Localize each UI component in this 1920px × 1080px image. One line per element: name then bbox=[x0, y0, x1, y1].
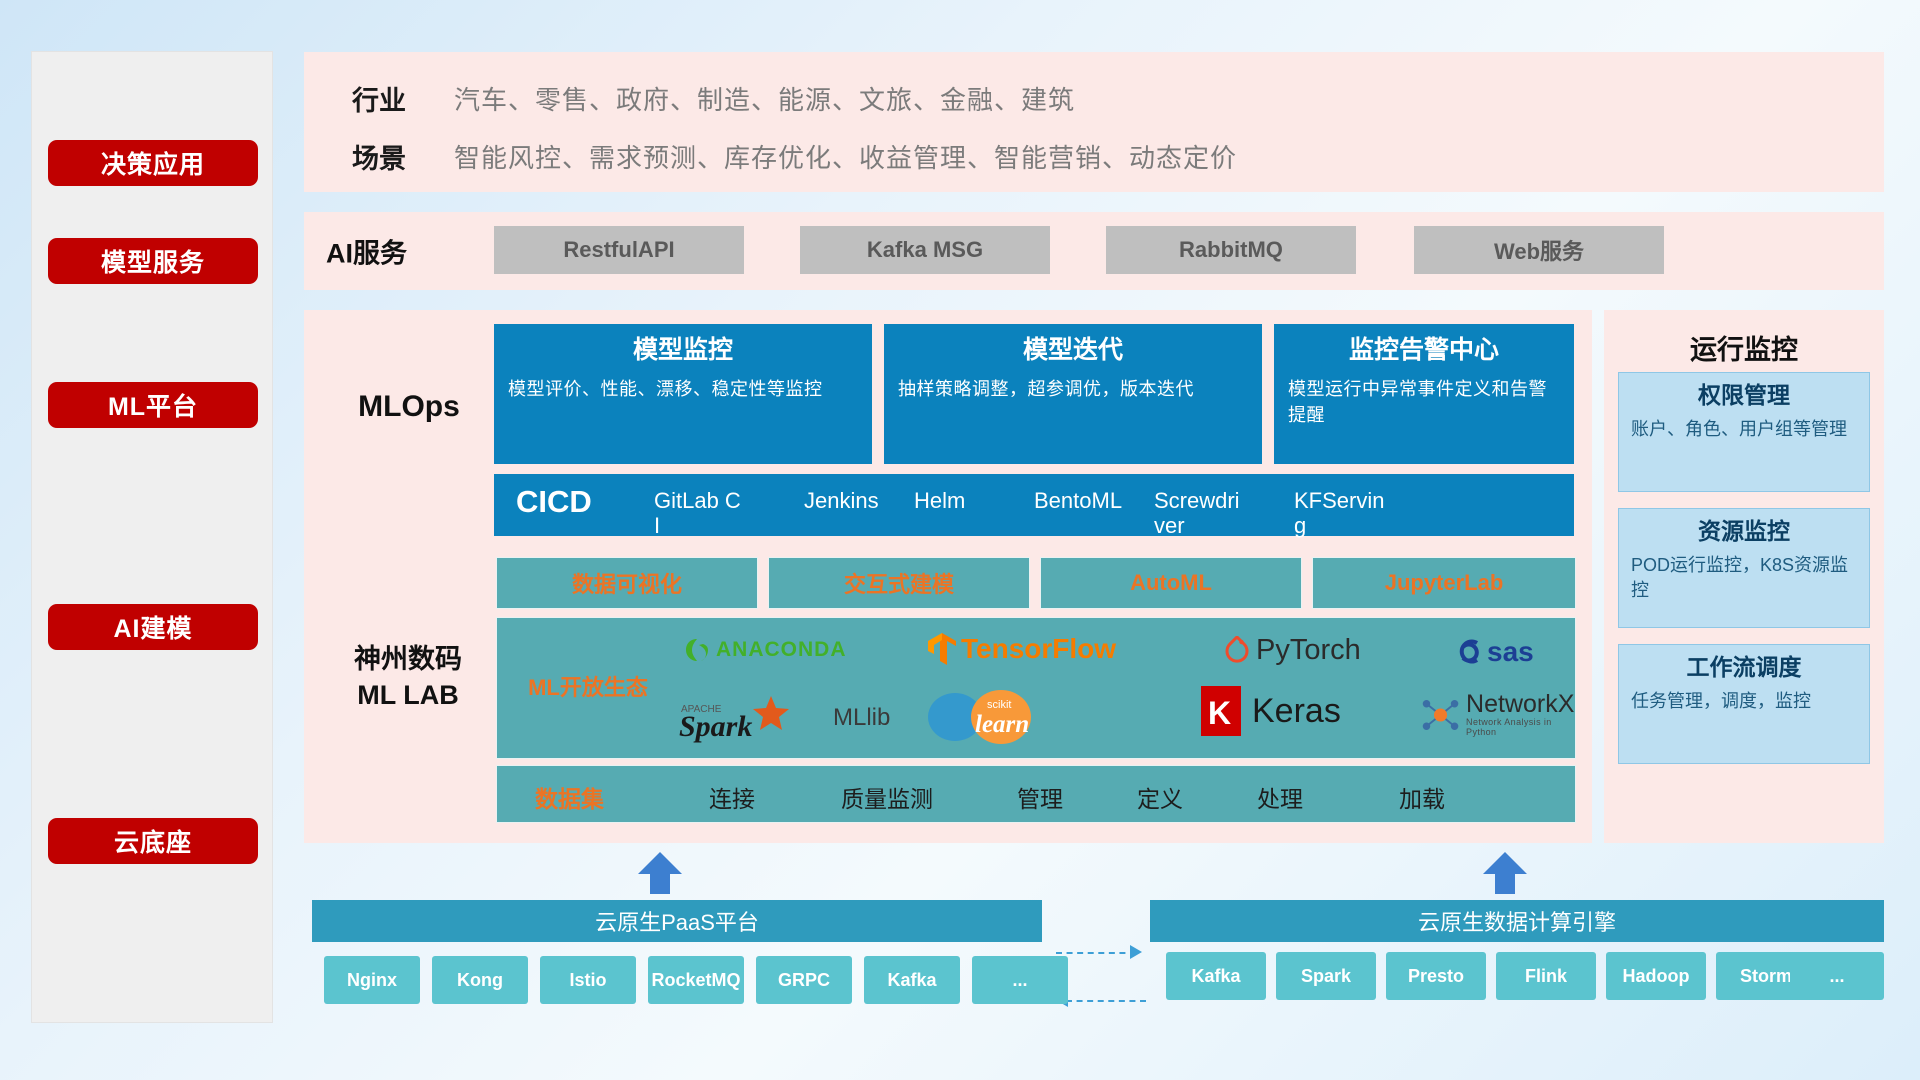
lab-cap-data-visualization[interactable]: 数据可视化 bbox=[496, 557, 758, 609]
rail-item-ml-platform[interactable]: ML平台 bbox=[48, 382, 258, 428]
pytorch-icon bbox=[1223, 636, 1251, 666]
data-engine-bar[interactable]: 云原生数据计算引擎 bbox=[1150, 900, 1884, 942]
ml-lab-label: 神州数码 ML LAB bbox=[318, 641, 498, 714]
industry-scenario-panel: 行业 汽车、零售、政府、制造、能源、文旅、金融、建筑 场景 智能风控、需求预测、… bbox=[304, 52, 1884, 192]
chip-kafka-left[interactable]: Kafka bbox=[864, 956, 960, 1004]
monitoring-title: 运行监控 bbox=[1604, 328, 1884, 367]
sas-wordmark: sas bbox=[1487, 636, 1534, 668]
chip-kong[interactable]: Kong bbox=[432, 956, 528, 1004]
mlops-card-model-monitoring[interactable]: 模型监控 模型评价、性能、漂移、稳定性等监控 bbox=[494, 324, 872, 464]
cicd-strip: CICD GitLab CI Jenkins Helm BentoML Scre… bbox=[494, 474, 1574, 536]
keras-icon: K bbox=[1201, 686, 1245, 736]
arrow-up-right-icon bbox=[1475, 852, 1535, 894]
chip-grpc[interactable]: GRPC bbox=[756, 956, 852, 1004]
industry-row: 行业 汽车、零售、政府、制造、能源、文旅、金融、建筑 bbox=[304, 70, 1075, 126]
chip-presto[interactable]: Presto bbox=[1386, 952, 1486, 1000]
industry-label: 行业 bbox=[304, 79, 454, 118]
scikit-learn-logo: scikit learn bbox=[923, 688, 1093, 746]
sas-logo: sas bbox=[1455, 636, 1534, 668]
card-title: 模型监控 bbox=[508, 334, 858, 368]
scenario-label: 场景 bbox=[304, 137, 454, 176]
networkx-logo: NetworkX Network Analysis in Python bbox=[1419, 692, 1577, 737]
chip-flink[interactable]: Flink bbox=[1496, 952, 1596, 1000]
mlops-card-model-iteration[interactable]: 模型迭代 抽样策略调整，超参调优，版本迭代 bbox=[884, 324, 1262, 464]
tensorflow-wordmark: TensorFlow bbox=[961, 633, 1116, 665]
service-chip-restfulapi[interactable]: RestfulAPI bbox=[494, 226, 744, 274]
service-chip-kafka-msg[interactable]: Kafka MSG bbox=[800, 226, 1050, 274]
card-desc: 账户、角色、用户组等管理 bbox=[1631, 417, 1857, 442]
service-chip-rabbitmq[interactable]: RabbitMQ bbox=[1106, 226, 1356, 274]
svg-text:scikit: scikit bbox=[987, 699, 1011, 711]
scenario-value: 智能风控、需求预测、库存优化、收益管理、智能营销、动态定价 bbox=[454, 138, 1237, 175]
rail-item-decision-app[interactable]: 决策应用 bbox=[48, 140, 258, 186]
monitoring-rail: 运行监控 权限管理 账户、角色、用户组等管理 资源监控 POD运行监控，K8S资… bbox=[1604, 310, 1884, 843]
chip-rocketmq[interactable]: RocketMQ bbox=[648, 956, 744, 1004]
chip-more-left[interactable]: ... bbox=[972, 956, 1068, 1004]
ai-service-panel: AI服务 RestfulAPI Kafka MSG RabbitMQ Web服务 bbox=[304, 212, 1884, 290]
sas-icon bbox=[1455, 638, 1485, 666]
paas-bar[interactable]: 云原生PaaS平台 bbox=[312, 900, 1042, 942]
anaconda-icon bbox=[683, 636, 711, 664]
svg-text:K: K bbox=[1208, 695, 1231, 731]
monitor-card-workflow[interactable]: 工作流调度 任务管理，调度，监控 bbox=[1618, 644, 1870, 764]
diagram-canvas: 决策应用 模型服务 ML平台 AI建模 云底座 行业 汽车、零售、政府、制造、能… bbox=[0, 0, 1920, 1080]
chip-istio[interactable]: Istio bbox=[540, 956, 636, 1004]
scikit-learn-icon: scikit learn bbox=[923, 688, 1093, 746]
pytorch-logo: PyTorch bbox=[1223, 634, 1361, 667]
monitor-card-resource[interactable]: 资源监控 POD运行监控，K8S资源监控 bbox=[1618, 508, 1870, 628]
dataset-item-process[interactable]: 处理 bbox=[1235, 780, 1325, 814]
cicd-item-gitlab-ci[interactable]: GitLab CI bbox=[654, 488, 746, 539]
chip-hadoop[interactable]: Hadoop bbox=[1606, 952, 1706, 1000]
mllib-wordmark: MLlib bbox=[833, 704, 890, 732]
cicd-item-kfserving[interactable]: KFServing bbox=[1294, 488, 1386, 539]
card-desc: POD运行监控，K8S资源监控 bbox=[1631, 553, 1857, 603]
service-chip-web-service[interactable]: Web服务 bbox=[1414, 226, 1664, 274]
cicd-item-helm[interactable]: Helm bbox=[914, 488, 1006, 513]
lab-cap-automl[interactable]: AutoML bbox=[1040, 557, 1302, 609]
cicd-label: CICD bbox=[516, 484, 592, 520]
card-desc: 模型运行中异常事件定义和告警提醒 bbox=[1288, 376, 1560, 428]
chip-nginx[interactable]: Nginx bbox=[324, 956, 420, 1004]
rail-item-ai-modeling[interactable]: AI建模 bbox=[48, 604, 258, 650]
dataset-item-define[interactable]: 定义 bbox=[1115, 780, 1205, 814]
industry-value: 汽车、零售、政府、制造、能源、文旅、金融、建筑 bbox=[454, 80, 1075, 117]
networkx-icon bbox=[1419, 693, 1462, 737]
connector-arrow-right-icon bbox=[1130, 944, 1146, 960]
pytorch-wordmark: PyTorch bbox=[1256, 634, 1361, 667]
lab-cap-interactive-modeling[interactable]: 交互式建模 bbox=[768, 557, 1030, 609]
dataset-strip: 数据集 连接 质量监测 管理 定义 处理 加载 bbox=[496, 765, 1576, 823]
keras-logo: K Keras bbox=[1201, 686, 1341, 736]
dataset-item-quality[interactable]: 质量监测 bbox=[817, 780, 957, 814]
card-desc: 任务管理，调度，监控 bbox=[1631, 689, 1857, 714]
mlops-card-alert-center[interactable]: 监控告警中心 模型运行中异常事件定义和告警提醒 bbox=[1274, 324, 1574, 464]
dataset-label: 数据集 bbox=[535, 780, 604, 814]
spark-mllib-logo: APACHE Spark MLlib bbox=[679, 692, 890, 744]
ml-ecosystem-label: ML开放生态 bbox=[513, 670, 663, 702]
chip-more-right[interactable]: ... bbox=[1790, 952, 1884, 1000]
dataset-item-load[interactable]: 加载 bbox=[1377, 780, 1467, 814]
chip-kafka-right[interactable]: Kafka bbox=[1166, 952, 1266, 1000]
anaconda-wordmark: ANACONDA bbox=[716, 638, 847, 662]
mlops-panel: MLOps 模型监控 模型评价、性能、漂移、稳定性等监控 模型迭代 抽样策略调整… bbox=[304, 310, 1592, 550]
card-desc: 抽样策略调整，超参调优，版本迭代 bbox=[898, 376, 1248, 402]
connector-dashed-bottom bbox=[1066, 1000, 1146, 1002]
arrow-up-left-icon bbox=[630, 852, 690, 894]
cicd-item-jenkins[interactable]: Jenkins bbox=[804, 488, 896, 513]
cicd-item-screwdriver[interactable]: Screwdriver bbox=[1154, 488, 1246, 539]
dataset-item-connect[interactable]: 连接 bbox=[687, 780, 777, 814]
networkx-tagline: Network Analysis in Python bbox=[1466, 717, 1577, 737]
card-title: 资源监控 bbox=[1631, 517, 1857, 547]
logo-grid: ANACONDA TensorFlow PyTorch bbox=[665, 622, 1571, 756]
mlops-label: MLOps bbox=[324, 390, 494, 424]
monitor-card-permission[interactable]: 权限管理 账户、角色、用户组等管理 bbox=[1618, 372, 1870, 492]
dataset-item-manage[interactable]: 管理 bbox=[995, 780, 1085, 814]
scenario-row: 场景 智能风控、需求预测、库存优化、收益管理、智能营销、动态定价 bbox=[304, 128, 1237, 184]
ml-ecosystem-box: ML开放生态 ANACONDA TensorFlow bbox=[496, 617, 1576, 759]
spark-icon: APACHE Spark bbox=[679, 692, 829, 744]
card-desc: 模型评价、性能、漂移、稳定性等监控 bbox=[508, 376, 858, 402]
anaconda-logo: ANACONDA bbox=[683, 636, 847, 664]
ml-lab-label-line2: ML LAB bbox=[318, 677, 498, 713]
rail-item-model-service[interactable]: 模型服务 bbox=[48, 238, 258, 284]
networkx-wordmark: NetworkX bbox=[1466, 692, 1577, 717]
lab-cap-jupyterlab[interactable]: JupyterLab bbox=[1312, 557, 1576, 609]
rail-item-cloud-base[interactable]: 云底座 bbox=[48, 818, 258, 864]
ml-lab-label-line1: 神州数码 bbox=[318, 641, 498, 677]
ml-lab-panel: 神州数码 ML LAB 数据可视化 交互式建模 AutoML JupyterLa… bbox=[304, 545, 1592, 843]
tensorflow-icon bbox=[927, 632, 957, 666]
svg-text:Spark: Spark bbox=[679, 710, 752, 743]
chip-spark[interactable]: Spark bbox=[1276, 952, 1376, 1000]
card-title: 权限管理 bbox=[1631, 381, 1857, 411]
card-title: 工作流调度 bbox=[1631, 653, 1857, 683]
ai-service-label: AI服务 bbox=[326, 232, 407, 271]
card-title: 监控告警中心 bbox=[1288, 334, 1560, 368]
keras-wordmark: Keras bbox=[1252, 692, 1341, 731]
tensorflow-logo: TensorFlow bbox=[927, 632, 1116, 666]
card-title: 模型迭代 bbox=[898, 334, 1248, 368]
left-rail: 决策应用 模型服务 ML平台 AI建模 云底座 bbox=[32, 52, 272, 1022]
svg-text:learn: learn bbox=[975, 711, 1029, 738]
cicd-item-bentoml[interactable]: BentoML bbox=[1034, 488, 1126, 513]
connector-dashed-top bbox=[1056, 952, 1136, 954]
